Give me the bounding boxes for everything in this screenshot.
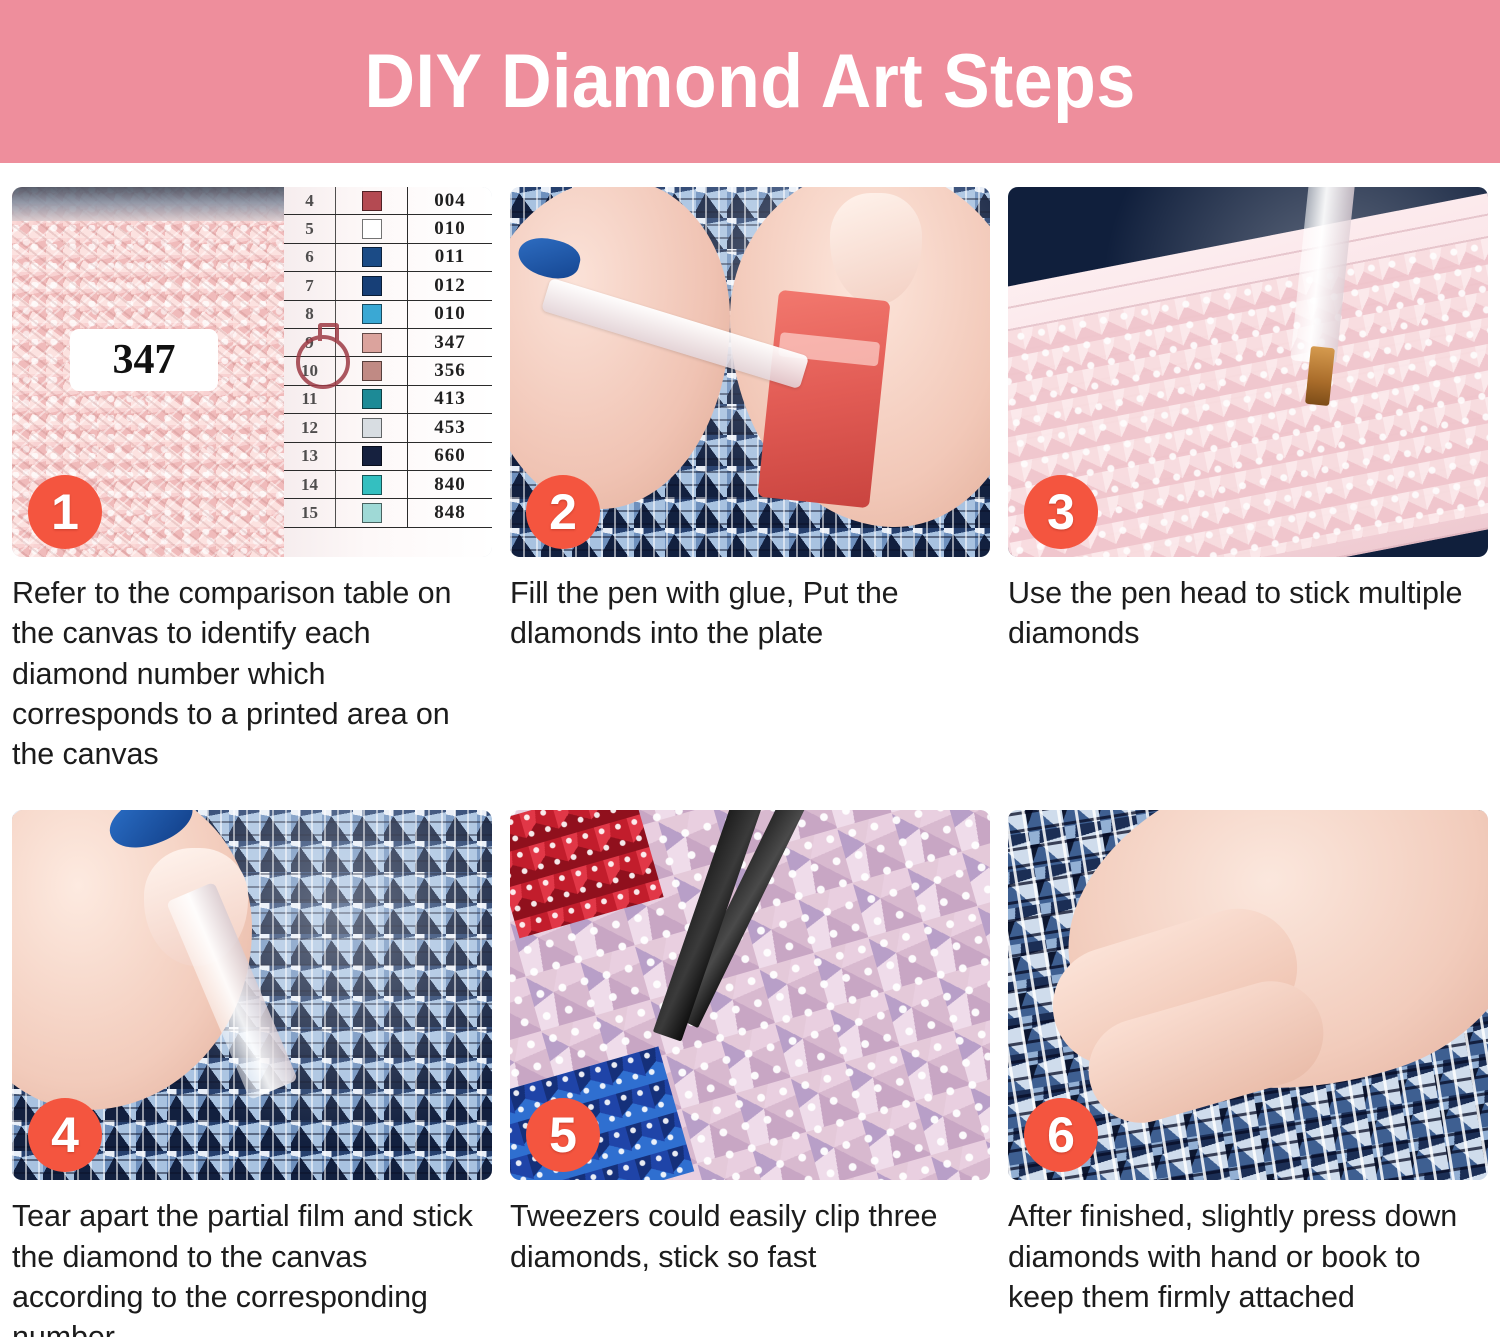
chart-color-swatch <box>336 244 408 271</box>
chart-row-number: 15 <box>284 499 336 526</box>
chart-color-swatch <box>336 499 408 526</box>
chart-row: 6011 <box>284 244 492 272</box>
chart-color-code: 012 <box>408 272 492 299</box>
chart-color-swatch <box>336 471 408 498</box>
step-image-4: 4 <box>12 810 492 1180</box>
chart-row-number: 11 <box>284 386 336 413</box>
chart-row: 15848 <box>284 499 492 527</box>
step-image-6: 6 <box>1008 810 1488 1180</box>
chart-color-code: 011 <box>408 244 492 271</box>
step-caption-1: Refer to the comparison table on the can… <box>12 573 492 774</box>
chart-color-code: 347 <box>408 329 492 356</box>
header-banner: DIY Diamond Art Steps <box>0 0 1500 163</box>
chart-row: 8010 <box>284 301 492 329</box>
step-card-1: 4004501060117012801093471035611413124531… <box>12 187 492 774</box>
step-card-2: 2 Fill the pen with glue, Put the dlamon… <box>510 187 990 774</box>
chart-row-number: 6 <box>284 244 336 271</box>
chart-color-code: 010 <box>408 215 492 242</box>
step-badge-2: 2 <box>526 475 600 549</box>
chart-row-number: 12 <box>284 414 336 441</box>
glue-block <box>757 290 890 509</box>
step-image-5: 5 <box>510 810 990 1180</box>
steps-row-top: 4004501060117012801093471035611413124531… <box>12 187 1488 774</box>
chart-color-code: 010 <box>408 301 492 328</box>
highlight-ring-icon <box>296 335 350 389</box>
chart-row-number: 4 <box>284 187 336 214</box>
step-badge-6: 6 <box>1024 1098 1098 1172</box>
chart-color-code: 840 <box>408 471 492 498</box>
chart-row-number: 14 <box>284 471 336 498</box>
chart-color-code: 660 <box>408 443 492 470</box>
bead-number-label: 347 <box>70 329 218 391</box>
step-image-1: 4004501060117012801093471035611413124531… <box>12 187 492 557</box>
chart-color-swatch <box>336 443 408 470</box>
chart-color-swatch <box>336 414 408 441</box>
chart-row: 14840 <box>284 471 492 499</box>
step-image-3: 3 <box>1008 187 1488 557</box>
step-badge-1: 1 <box>28 475 102 549</box>
chart-color-swatch <box>336 187 408 214</box>
step-card-4: 4 Tear apart the partial film and stick … <box>12 810 492 1337</box>
chart-color-code: 004 <box>408 187 492 214</box>
step-image-2: 2 <box>510 187 990 557</box>
step-caption-3: Use the pen head to stick multiple diamo… <box>1008 573 1488 654</box>
step-badge-4: 4 <box>28 1098 102 1172</box>
page-title: DIY Diamond Art Steps <box>364 44 1135 120</box>
chart-color-code: 413 <box>408 386 492 413</box>
step-card-6: 6 After finished, slightly press down di… <box>1008 810 1488 1337</box>
step-card-3: 3 Use the pen head to stick multiple dia… <box>1008 187 1488 774</box>
chart-color-code: 848 <box>408 499 492 526</box>
chart-color-swatch <box>336 272 408 299</box>
chart-row: 4004 <box>284 187 492 215</box>
chart-row-number: 7 <box>284 272 336 299</box>
chart-color-code: 356 <box>408 357 492 384</box>
bag-seal <box>12 187 312 221</box>
chart-color-swatch <box>336 301 408 328</box>
step-caption-2: Fill the pen with glue, Put the dlamonds… <box>510 573 990 654</box>
step-caption-6: After finished, slightly press down diam… <box>1008 1196 1488 1317</box>
chart-color-code: 453 <box>408 414 492 441</box>
step-card-5: 5 Tweezers could easily clip three diamo… <box>510 810 990 1337</box>
chart-row: 11413 <box>284 386 492 414</box>
chart-color-swatch <box>336 386 408 413</box>
chart-row: 7012 <box>284 272 492 300</box>
chart-color-swatch <box>336 215 408 242</box>
chart-row: 12453 <box>284 414 492 442</box>
chart-row: 13660 <box>284 443 492 471</box>
chart-row-number: 13 <box>284 443 336 470</box>
steps-grid: 4004501060117012801093471035611413124531… <box>0 163 1500 1337</box>
chart-row-number: 5 <box>284 215 336 242</box>
chart-row: 5010 <box>284 215 492 243</box>
step-badge-3: 3 <box>1024 475 1098 549</box>
step-caption-4: Tear apart the partial film and stick th… <box>12 1196 492 1337</box>
steps-row-bottom: 4 Tear apart the partial film and stick … <box>12 810 1488 1337</box>
step-caption-5: Tweezers could easily clip three diamond… <box>510 1196 990 1277</box>
step-badge-5: 5 <box>526 1098 600 1172</box>
